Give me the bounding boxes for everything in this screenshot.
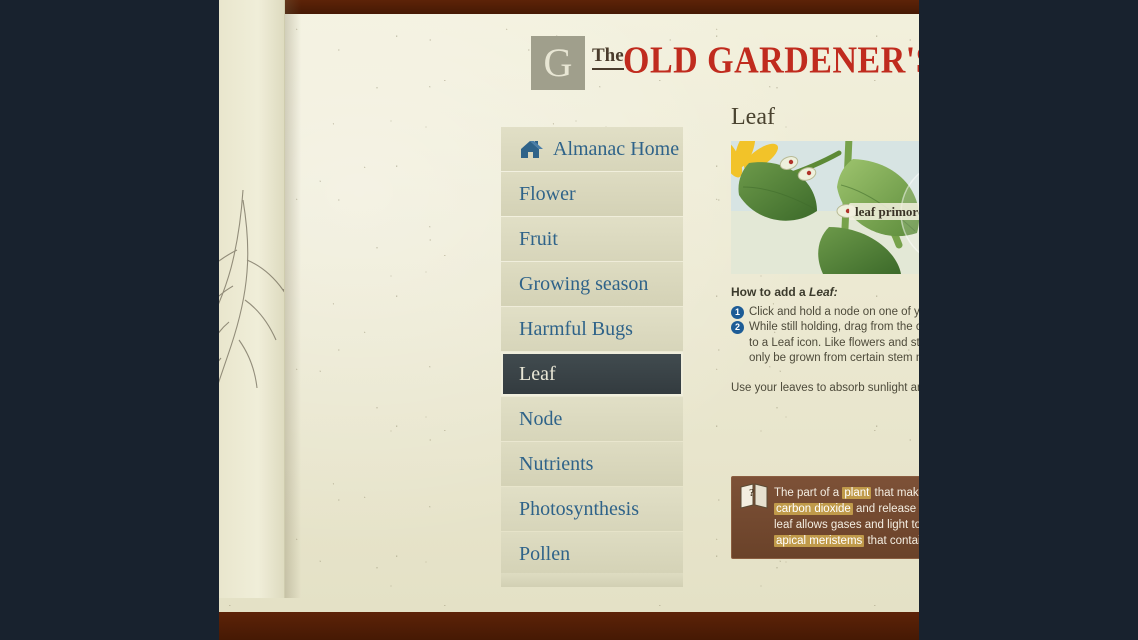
sidebar-item-harmful-bugs[interactable]: Harmful Bugs <box>501 307 683 351</box>
sidebar-scroll-tail[interactable] <box>501 573 683 587</box>
sidebar-item-fruit[interactable]: Fruit <box>501 217 683 261</box>
sidebar-item-almanac-home[interactable]: Almanac Home <box>501 127 683 171</box>
left-page <box>219 0 285 598</box>
sidebar-item-label: Leaf <box>519 363 556 386</box>
callout-leaf-primordia: leaf primordia <box>849 203 919 220</box>
sidebar-item-nutrients[interactable]: Nutrients <box>501 442 683 486</box>
svg-text:?: ? <box>749 487 755 499</box>
howto-heading: How to add a Leaf: <box>731 285 919 301</box>
sidebar-item-node[interactable]: Node <box>501 397 683 441</box>
page-title: Leaf <box>731 104 919 131</box>
title-prefix: The <box>592 45 624 70</box>
glossary-text: The part of a plant that makes food. Lea… <box>774 487 919 547</box>
howto-heading-term: Leaf: <box>809 285 838 299</box>
howto-note: Use your leaves to absorb sunlight and c… <box>731 381 919 397</box>
almanac-logo: G <box>531 36 585 90</box>
open-book-icon: ? <box>740 483 768 509</box>
glossary-term[interactable]: plant <box>842 487 871 499</box>
svg-text:leaf primordia: leaf primordia <box>855 204 919 219</box>
page-title-banner: OLD GARDENER'S ALMANAC <box>623 40 919 83</box>
sidebar-item-label: Photosynthesis <box>519 498 639 521</box>
window-bottom-border <box>219 612 919 640</box>
glossary-plain: that contain <box>864 535 919 547</box>
sidebar-item-leaf[interactable]: Leaf <box>501 352 683 396</box>
sidebar-item-label: Flower <box>519 183 576 206</box>
glossary-plain: that makes food. Leaves capture sunlight… <box>871 487 919 499</box>
sidebar-item-label: Growing season <box>519 273 648 296</box>
sidebar-item-label: Node <box>519 408 562 431</box>
step-number-badge: 2 <box>731 321 744 334</box>
step-text: Click and hold a node on one of your ste… <box>749 305 919 321</box>
glossary-plain: The part of a <box>774 487 842 499</box>
howto-step: 1 Click and hold a node on one of your s… <box>731 305 919 321</box>
root-sketch-illustration <box>219 190 285 440</box>
illustration-svg: leaf primordia <box>731 141 919 274</box>
content-column: Leaf <box>731 104 919 396</box>
sidebar-item-photosynthesis[interactable]: Photosynthesis <box>501 487 683 531</box>
sidebar-item-pollen[interactable]: Pollen <box>501 532 683 576</box>
house-icon <box>519 138 545 160</box>
window-top-border <box>219 0 919 14</box>
howto-heading-prefix: How to add a <box>731 285 809 299</box>
glossary-plain: and release <box>853 503 919 515</box>
game-window: G The OLD GARDENER'S ALMANAC Almanac Hom… <box>219 0 919 640</box>
step-text: While still holding, drag from the cente… <box>749 320 919 367</box>
sidebar-item-label: Pollen <box>519 543 570 566</box>
logo-letter: G <box>544 43 573 83</box>
glossary-box: ? The part of a plant that makes food. L… <box>731 476 919 559</box>
glossary-term[interactable]: apical meristems <box>774 535 864 547</box>
sidebar-item-label: Almanac Home <box>553 138 679 161</box>
howto-step: 2 While still holding, drag from the cen… <box>731 320 919 367</box>
sidebar-nav[interactable]: Almanac Home Flower Fruit Growing season… <box>501 127 683 577</box>
howto-block: How to add a Leaf: 1 Click and hold a no… <box>731 285 919 367</box>
sidebar-item-label: Harmful Bugs <box>519 318 633 341</box>
sidebar-item-label: Nutrients <box>519 453 593 476</box>
step-number-badge: 1 <box>731 306 744 319</box>
sidebar-item-label: Fruit <box>519 228 558 251</box>
sidebar-item-flower[interactable]: Flower <box>501 172 683 216</box>
sidebar-item-growing-season[interactable]: Growing season <box>501 262 683 306</box>
leaf-illustration: leaf primordia <box>731 141 919 274</box>
glossary-term[interactable]: carbon dioxide <box>774 503 853 515</box>
